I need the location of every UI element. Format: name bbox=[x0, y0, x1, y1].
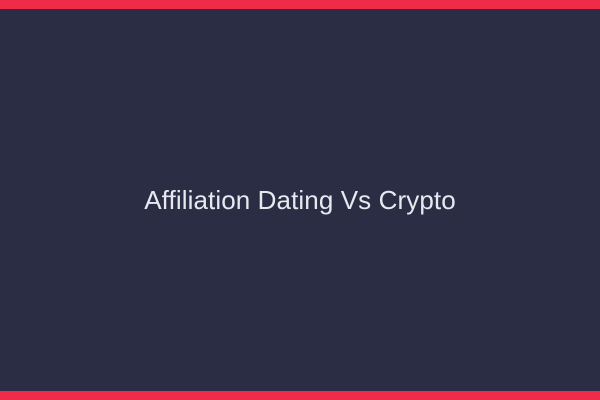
bottom-accent-bar bbox=[0, 391, 600, 400]
title-card: Affiliation Dating Vs Crypto bbox=[0, 0, 600, 400]
top-accent-bar bbox=[0, 0, 600, 9]
page-title: Affiliation Dating Vs Crypto bbox=[120, 184, 480, 217]
